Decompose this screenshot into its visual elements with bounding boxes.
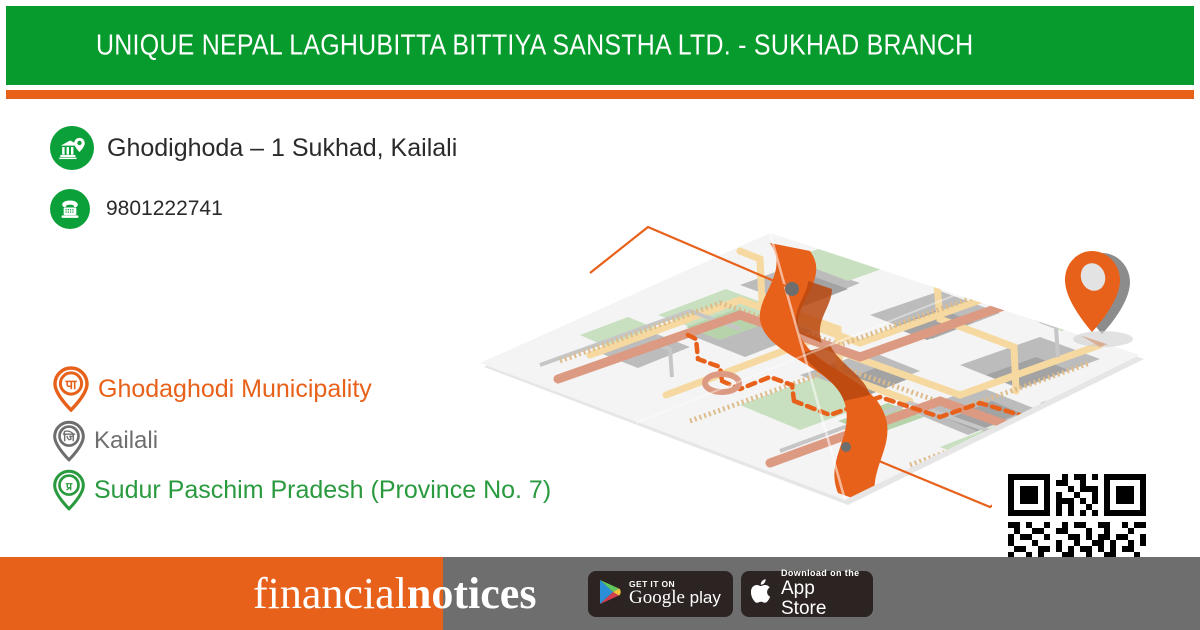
callout-dot-top xyxy=(785,282,799,296)
callout-dot-bottom xyxy=(841,442,851,452)
phone-text: 9801222741 xyxy=(106,197,223,221)
map-pin-province-icon: प्र xyxy=(52,468,86,512)
municipality-row: पा Ghodaghodi Municipality xyxy=(52,366,372,412)
address-text: Ghodighoda – 1 Sukhad, Kailali xyxy=(107,134,457,163)
brand-logo[interactable]: financialnotices xyxy=(253,571,536,617)
google-play-badge-text: GET IT ON Google play xyxy=(629,580,721,609)
pin-glyph-province: प्र xyxy=(65,480,73,493)
app-store-badge[interactable]: Download on the App Store xyxy=(741,571,873,617)
branch-info-card: UNIQUE NEPAL LAGHUBITTA BITTIYA SANSTHA … xyxy=(0,0,1200,630)
header-band: UNIQUE NEPAL LAGHUBITTA BITTIYA SANSTHA … xyxy=(6,6,1194,85)
header-accent-stripe xyxy=(6,90,1194,99)
google-play-badge[interactable]: GET IT ON Google play xyxy=(588,571,733,617)
address-row: Ghodighoda – 1 Sukhad, Kailali xyxy=(50,126,457,170)
pin-glyph-district: जि xyxy=(62,430,76,444)
telephone-icon xyxy=(50,189,90,229)
brand-logo-part-notices: notices xyxy=(407,569,537,618)
google-word: Google xyxy=(629,587,685,608)
map-pin-municipality-icon: पा xyxy=(52,366,90,412)
page-title: UNIQUE NEPAL LAGHUBITTA BITTIYA SANSTHA … xyxy=(96,29,973,62)
app-store-badge-large-text: App Store xyxy=(781,579,863,619)
location-pin-3d-icon xyxy=(1065,251,1133,347)
pin-glyph-municipality: पा xyxy=(65,378,77,393)
app-store-badge-text: Download on the App Store xyxy=(781,569,863,618)
district-text: Kailali xyxy=(94,427,158,455)
district-row: जि Kailali xyxy=(52,420,158,462)
brand-logo-part-financial: financial xyxy=(253,569,407,618)
bank-location-icon xyxy=(50,126,94,170)
phone-row: 9801222741 xyxy=(50,189,223,229)
play-word: play xyxy=(685,588,721,607)
map-pin-district-icon: जि xyxy=(52,420,86,462)
google-play-badge-large-text: Google play xyxy=(629,588,721,608)
google-play-icon xyxy=(598,579,622,610)
municipality-text: Ghodaghodi Municipality xyxy=(98,375,372,404)
apple-logo-icon xyxy=(751,578,774,610)
